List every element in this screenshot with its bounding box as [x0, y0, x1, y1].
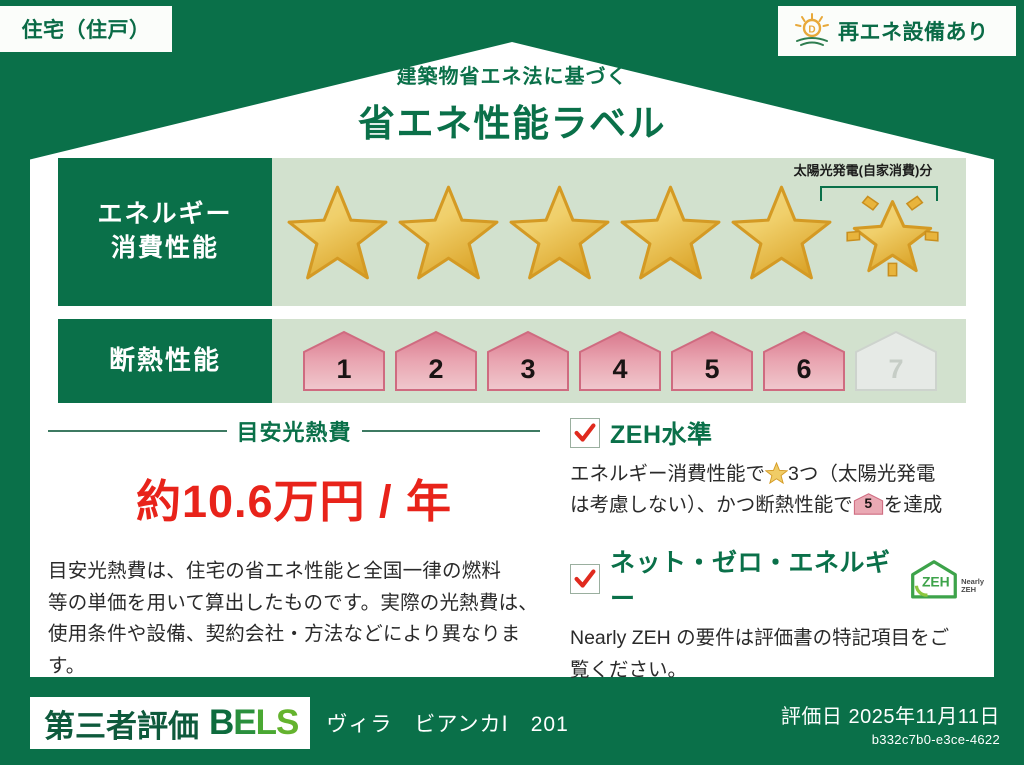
estimated-cost-value: 約10.6万円 / 年	[48, 465, 540, 530]
performance-rows: エネルギー 消費性能	[58, 158, 966, 416]
star-icon	[619, 183, 722, 282]
zeh-standard-title: ZEH水準	[610, 415, 713, 451]
evaluation-info: 評価日 2025年11月11日 b332c7b0-e3ce-4622	[781, 700, 1000, 747]
energy-performance-label-line2: 消費性能	[111, 232, 219, 266]
insulation-grade-badge: 2	[392, 330, 480, 392]
checkmark-icon	[570, 564, 600, 594]
energy-performance-label-line1: エネルギー	[97, 198, 232, 232]
housing-type-label: 住宅（住戸）	[22, 14, 151, 44]
svg-text:D: D	[808, 24, 815, 35]
net-zero-energy-block: ネット・ゼロ・エネルギー ZEH Nearly ZEH	[570, 543, 984, 685]
insulation-grade-number-inline: 5	[853, 493, 884, 515]
bels-letter-e: E	[233, 703, 255, 742]
cost-note-line2: 等の単価を用いて算出したものです。実際の光熱費は、	[48, 588, 540, 620]
star-icon	[286, 183, 389, 282]
checkmark-icon	[570, 418, 600, 448]
insulation-performance-value: 1 2 3 4 5	[272, 319, 966, 403]
bels-wordmark: BELS	[209, 703, 298, 743]
bels-logo: 第三者評価 BELS	[30, 697, 310, 749]
star-icon	[730, 183, 833, 282]
insulation-grade-badge: 6	[760, 330, 848, 392]
insulation-grade-number: 3	[520, 354, 535, 392]
insulation-grade-badge-inactive: 7	[852, 330, 940, 392]
zeh-standard-text-a: エネルギー消費性能で	[570, 463, 765, 485]
page-title: 省エネ性能ラベル	[0, 93, 1024, 147]
zeh-standard-text-d: を達成	[884, 494, 943, 516]
renewable-equipment-label: 再エネ設備あり	[838, 16, 989, 46]
label-root: 住宅（住戸） D 再エネ設備あり 建築物省エネ法に基づく 省エネ	[0, 0, 1024, 765]
footer: 第三者評価 BELS ヴィラ ビアンカⅠ 201 評価日 2025年11月11日…	[0, 681, 1024, 765]
insulation-performance-row: 断熱性能 1 2	[58, 319, 966, 403]
zeh-standard-text-b: 3つ（太陽光発電	[788, 463, 935, 485]
zeh-standard-heading: ZEH水準	[570, 415, 984, 451]
insulation-grade-badge-inline: 5	[853, 493, 884, 515]
title-subtitle: 建築物省エネ法に基づく	[0, 60, 1024, 89]
housing-type-badge: 住宅（住戸）	[0, 6, 172, 52]
insulation-grade-badge: 3	[484, 330, 572, 392]
cost-heading-rule-right	[362, 430, 541, 432]
net-zero-energy-title: ネット・ゼロ・エネルギー	[610, 543, 899, 615]
star-icon	[508, 183, 611, 282]
energy-performance-label: エネルギー 消費性能	[58, 158, 272, 306]
insulation-performance-label: 断熱性能	[58, 319, 272, 403]
evaluation-date: 評価日 2025年11月11日	[781, 700, 1000, 729]
info-section: 目安光熱費 約10.6万円 / 年 目安光熱費は、住宅の省エネ性能と全国一律の燃…	[48, 415, 984, 686]
svg-text:ZEH: ZEH	[922, 574, 950, 590]
insulation-grade-number: 1	[336, 354, 351, 392]
cost-block: 目安光熱費 約10.6万円 / 年 目安光熱費は、住宅の省エネ性能と全国一律の燃…	[48, 415, 540, 686]
evaluation-id: b332c7b0-e3ce-4622	[781, 732, 1000, 747]
insulation-grade-number: 4	[612, 354, 627, 392]
zeh-block: ZEH水準 エネルギー消費性能で3つ（太陽光発電 は考慮しない）、かつ断熱性能で…	[558, 415, 984, 686]
bels-letter-l: L	[256, 703, 276, 742]
bels-letter-b: B	[209, 703, 233, 742]
insulation-grade-number: 6	[796, 354, 811, 392]
cost-heading-rule-left	[48, 430, 227, 432]
energy-performance-value: 太陽光発電(自家消費)分	[272, 158, 966, 306]
zeh-logo-sub: Nearly ZEH	[961, 578, 984, 601]
cost-note: 目安光熱費は、住宅の省エネ性能と全国一律の燃料 等の単価を用いて算出したものです…	[48, 556, 540, 682]
insulation-grade-badge: 1	[300, 330, 388, 392]
net-zero-energy-heading: ネット・ゼロ・エネルギー ZEH Nearly ZEH	[570, 543, 984, 615]
energy-performance-row: エネルギー 消費性能	[58, 158, 966, 306]
zeh-logo: ZEH Nearly ZEH	[909, 558, 984, 600]
solar-annotation-label: 太陽光発電(自家消費)分	[768, 164, 958, 178]
zeh-standard-text-c: は考慮しない）、かつ断熱性能で	[570, 494, 853, 516]
net-zero-energy-text: Nearly ZEH の要件は評価書の特記項目をご 覧ください。	[570, 623, 984, 685]
zeh-house-icon: ZEH	[909, 558, 959, 600]
cost-note-line1: 目安光熱費は、住宅の省エネ性能と全国一律の燃料	[48, 556, 540, 588]
net-zero-energy-text-line1: Nearly ZEH の要件は評価書の特記項目をご	[570, 623, 984, 654]
star-icon-inline	[765, 462, 788, 484]
building-name: ヴィラ ビアンカⅠ 201	[326, 708, 568, 738]
cost-heading-text: 目安光熱費	[237, 415, 352, 447]
insulation-grade-scale: 1 2 3 4 5	[272, 330, 940, 392]
zeh-logo-sub2: ZEH	[961, 585, 976, 594]
insulation-grade-number: 2	[428, 354, 443, 392]
bels-letter-s: S	[276, 703, 298, 742]
cost-heading: 目安光熱費	[48, 415, 540, 447]
insulation-grade-number: 5	[704, 354, 719, 392]
cost-note-line3: 使用条件や設備、契約会社・方法などにより異なります。	[48, 619, 540, 682]
insulation-performance-label-text: 断熱性能	[109, 343, 221, 378]
insulation-grade-number: 7	[888, 354, 903, 392]
title-block: 建築物省エネ法に基づく 省エネ性能ラベル	[0, 60, 1024, 147]
third-party-evaluation-label: 第三者評価	[44, 701, 199, 746]
star-icon	[397, 183, 500, 282]
renewable-equipment-badge: D 再エネ設備あり	[778, 6, 1016, 56]
insulation-grade-badge: 5	[668, 330, 756, 392]
solar-sun-icon: D	[792, 11, 832, 52]
solar-annotation-bracket	[820, 186, 938, 201]
insulation-grade-badge: 4	[576, 330, 664, 392]
zeh-standard-text: エネルギー消費性能で3つ（太陽光発電 は考慮しない）、かつ断熱性能で5を達成	[570, 459, 984, 521]
